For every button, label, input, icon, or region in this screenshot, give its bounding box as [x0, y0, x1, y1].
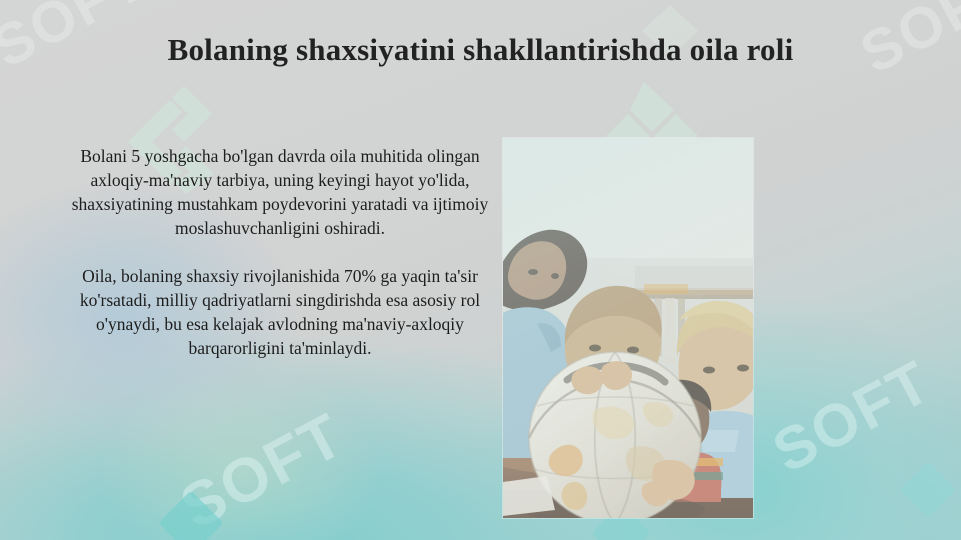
slide-title: Bolaning shaxsiyatini shakllantirishda o… [0, 30, 961, 70]
photo-content [503, 138, 753, 518]
paragraph-1: Bolani 5 yoshgacha bo'lgan davrda oila m… [50, 144, 510, 240]
slide-body-text: Bolani 5 yoshgacha bo'lgan davrda oila m… [50, 144, 510, 360]
presentation-slide: SOFT SOFT SOFT SOFT [0, 0, 961, 540]
paragraph-2: Oila, bolaning shaxsiy rivojlanishida 70… [50, 264, 510, 360]
slide-photo [503, 138, 753, 518]
